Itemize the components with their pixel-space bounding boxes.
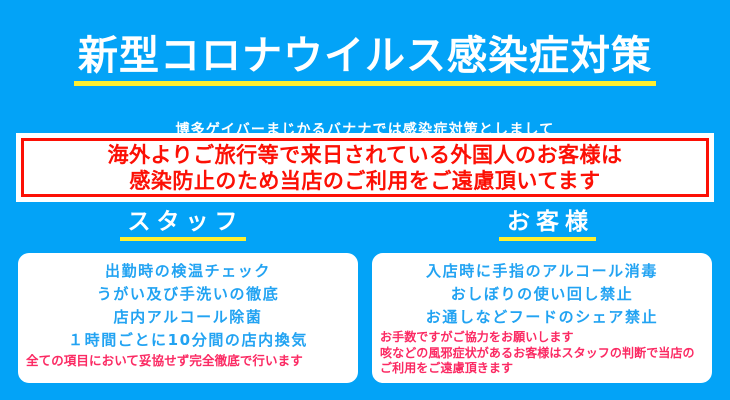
list-item: １時間ごとに10分間の店内換気	[26, 329, 350, 352]
list-item: お通しなどフードのシェア禁止	[380, 306, 704, 329]
warning-box: 海外よりご旅行等で来日されている外国人のお客様は 感染防止のため当店のご利用をご…	[16, 133, 714, 202]
staff-measure-list: 出勤時の検温チェック うがい及び手洗いの徹底 店内アルコール除菌 １時間ごとに1…	[26, 260, 350, 352]
note-line: お手数ですがご協力をお願いします	[380, 330, 704, 346]
note-line: ご利用をご遠慮頂きます	[380, 361, 704, 377]
column-heading-staff: スタッフ	[120, 209, 246, 241]
list-item: 店内アルコール除菌	[26, 306, 350, 329]
column-heading-staff-cell: スタッフ	[0, 209, 365, 241]
panels-container: 出勤時の検温チェック うがい及び手洗いの徹底 店内アルコール除菌 １時間ごとに1…	[18, 253, 712, 383]
list-item: うがい及び手洗いの徹底	[26, 283, 350, 306]
customer-measure-list: 入店時に手指のアルコール消毒 おしぼりの使い回し禁止 お通しなどフードのシェア禁…	[380, 260, 704, 329]
list-item: 入店時に手指のアルコール消毒	[380, 260, 704, 283]
staff-panel: 出勤時の検温チェック うがい及び手洗いの徹底 店内アルコール除菌 １時間ごとに1…	[18, 253, 358, 383]
title-container: 新型コロナウイルス感染症対策	[0, 0, 730, 113]
customer-panel: 入店時に手指のアルコール消毒 おしぼりの使い回し禁止 お通しなどフードのシェア禁…	[372, 253, 712, 383]
column-heading-customers-cell: お客様	[365, 209, 730, 241]
list-item: おしぼりの使い回し禁止	[380, 283, 704, 306]
warning-box-border: 海外よりご旅行等で来日されている外国人のお客様は 感染防止のため当店のご利用をご…	[21, 138, 709, 197]
list-item: 出勤時の検温チェック	[26, 260, 350, 283]
note-line: 咳などの風邪症状があるお客様はスタッフの判断で当店の	[380, 346, 704, 362]
page-title: 新型コロナウイルス感染症対策	[74, 33, 656, 86]
column-headings: スタッフ お客様	[0, 209, 730, 241]
column-heading-customers: お客様	[499, 209, 596, 241]
covid-measures-poster: 新型コロナウイルス感染症対策 博多ゲイバーまじかるバナナでは感染症対策としまして…	[0, 0, 730, 400]
warning-line-2: 感染防止のため当店のご利用をご遠慮頂いてます	[129, 168, 600, 194]
customer-notes: お手数ですがご協力をお願いします 咳などの風邪症状があるお客様はスタッフの判断で…	[380, 330, 704, 377]
warning-line-1: 海外よりご旅行等で来日されている外国人のお客様は	[108, 142, 623, 168]
note-line: 全ての項目において妥協せず完全徹底で行います	[26, 353, 350, 369]
staff-notes: 全ての項目において妥協せず完全徹底で行います	[26, 353, 350, 369]
